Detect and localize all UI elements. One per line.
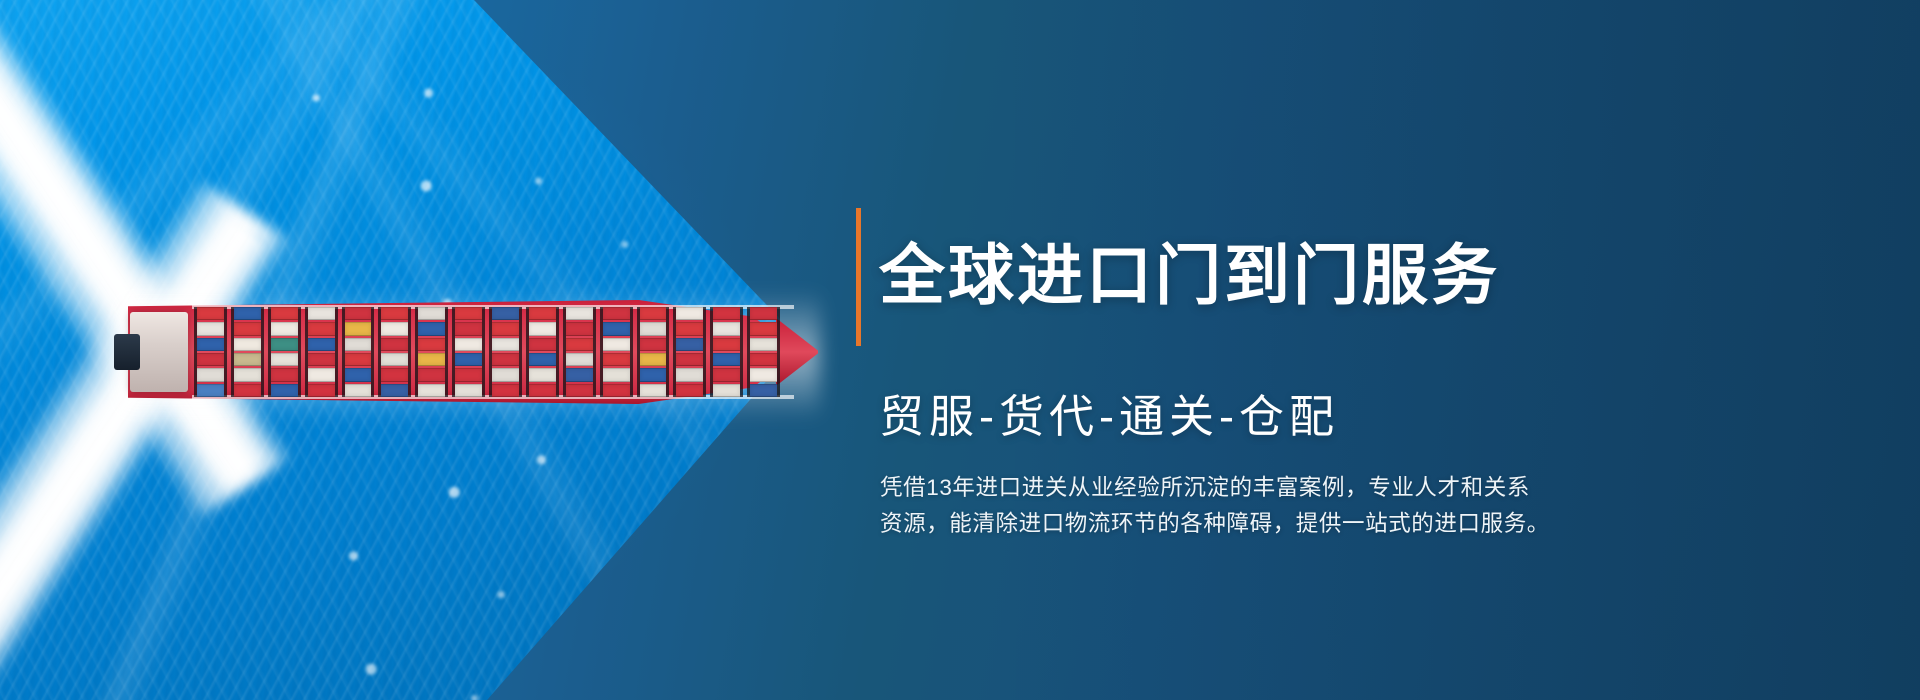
shipping-container	[271, 307, 298, 320]
shipping-container	[640, 322, 667, 335]
shipping-container	[381, 368, 408, 381]
shipping-container	[381, 384, 408, 397]
shipping-container	[197, 338, 224, 351]
shipping-container	[271, 322, 298, 335]
shipping-container	[750, 368, 777, 381]
shipping-container	[418, 338, 445, 351]
banner-description: 凭借13年进口进关从业经验所沉淀的丰富案例，专业人才和关系 资源，能清除进口物流…	[880, 470, 1640, 543]
shipping-container	[381, 338, 408, 351]
shipping-container	[603, 384, 630, 397]
shipping-container	[640, 353, 667, 366]
hero-banner: 全球进口门到门服务 贸服-货代-通关-仓配 凭借13年进口进关从业经验所沉淀的丰…	[0, 0, 1920, 700]
shipping-container	[676, 353, 703, 366]
shipping-container	[640, 368, 667, 381]
shipping-container	[234, 338, 261, 351]
shipping-container	[492, 338, 519, 351]
container-stacks	[194, 307, 780, 397]
shipping-container	[529, 338, 556, 351]
shipping-container	[418, 368, 445, 381]
shipping-container	[750, 353, 777, 366]
shipping-container	[308, 368, 335, 381]
shipping-container	[713, 353, 740, 366]
shipping-container	[713, 307, 740, 320]
container-bay	[194, 307, 227, 397]
shipping-container	[713, 322, 740, 335]
shipping-container	[234, 384, 261, 397]
shipping-container	[381, 353, 408, 366]
shipping-container	[455, 368, 482, 381]
shipping-container	[381, 307, 408, 320]
accent-bar-icon	[856, 208, 861, 346]
shipping-container	[234, 353, 261, 366]
shipping-container	[418, 384, 445, 397]
container-bay	[637, 307, 670, 397]
shipping-container	[640, 384, 667, 397]
shipping-container	[603, 338, 630, 351]
shipping-container	[308, 322, 335, 335]
shipping-container	[197, 384, 224, 397]
shipping-container	[492, 368, 519, 381]
shipping-container	[308, 307, 335, 320]
shipping-container	[345, 307, 372, 320]
shipping-container	[676, 338, 703, 351]
shipping-container	[492, 307, 519, 320]
shipping-container	[566, 322, 593, 335]
shipping-container	[566, 368, 593, 381]
shipping-container	[640, 307, 667, 320]
ship-bridge	[114, 334, 140, 370]
container-bay	[415, 307, 448, 397]
shipping-container	[455, 353, 482, 366]
shipping-container	[418, 353, 445, 366]
description-line-2: 资源，能清除进口物流环节的各种障碍，提供一站式的进口服务。	[880, 506, 1640, 542]
shipping-container	[750, 322, 777, 335]
banner-text-block: 全球进口门到门服务 贸服-货代-通关-仓配 凭借13年进口进关从业经验所沉淀的丰…	[856, 196, 1836, 565]
container-bay	[231, 307, 264, 397]
headline-row: 全球进口门到门服务	[856, 196, 1836, 356]
shipping-container	[529, 368, 556, 381]
container-bay	[563, 307, 596, 397]
container-bay	[600, 307, 633, 397]
shipping-container	[197, 368, 224, 381]
shipping-container	[676, 307, 703, 320]
shipping-container	[713, 368, 740, 381]
container-bay	[378, 307, 411, 397]
shipping-container	[529, 353, 556, 366]
shipping-container	[271, 384, 298, 397]
shipping-container	[418, 322, 445, 335]
shipping-container	[197, 322, 224, 335]
shipping-container	[271, 368, 298, 381]
shipping-container	[345, 368, 372, 381]
shipping-container	[529, 322, 556, 335]
shipping-container	[603, 307, 630, 320]
container-bay	[305, 307, 338, 397]
container-bay	[268, 307, 301, 397]
container-bay	[747, 307, 780, 397]
shipping-container	[234, 368, 261, 381]
shipping-container	[640, 338, 667, 351]
shipping-container	[381, 322, 408, 335]
container-ship-icon	[128, 300, 800, 404]
shipping-container	[603, 353, 630, 366]
shipping-container	[676, 322, 703, 335]
shipping-container	[455, 322, 482, 335]
shipping-container	[345, 322, 372, 335]
shipping-container	[308, 338, 335, 351]
banner-headline: 全球进口门到门服务	[879, 240, 1500, 311]
shipping-container	[455, 307, 482, 320]
shipping-container	[676, 384, 703, 397]
shipping-container	[197, 353, 224, 366]
shipping-container	[529, 384, 556, 397]
shipping-container	[750, 338, 777, 351]
shipping-container	[345, 384, 372, 397]
shipping-container	[234, 307, 261, 320]
shipping-container	[566, 307, 593, 320]
shipping-container	[234, 322, 261, 335]
shipping-container	[271, 338, 298, 351]
shipping-container	[492, 322, 519, 335]
banner-subheadline: 贸服-货代-通关-仓配	[879, 390, 1836, 444]
shipping-container	[345, 338, 372, 351]
shipping-container	[492, 353, 519, 366]
shipping-container	[713, 384, 740, 397]
shipping-container	[676, 368, 703, 381]
shipping-container	[345, 353, 372, 366]
shipping-container	[308, 353, 335, 366]
description-line-1: 凭借13年进口进关从业经验所沉淀的丰富案例，专业人才和关系	[880, 470, 1640, 506]
shipping-container	[197, 307, 224, 320]
container-bay	[673, 307, 706, 397]
shipping-container	[603, 368, 630, 381]
shipping-container	[418, 307, 445, 320]
shipping-container	[455, 384, 482, 397]
shipping-container	[566, 384, 593, 397]
shipping-container	[750, 384, 777, 397]
container-bay	[342, 307, 375, 397]
container-bay	[489, 307, 522, 397]
shipping-container	[750, 307, 777, 320]
shipping-container	[271, 353, 298, 366]
shipping-container	[529, 307, 556, 320]
shipping-container	[492, 384, 519, 397]
container-bay	[710, 307, 743, 397]
container-bay	[452, 307, 485, 397]
container-bay	[526, 307, 559, 397]
shipping-container	[308, 384, 335, 397]
shipping-container	[603, 322, 630, 335]
shipping-container	[566, 338, 593, 351]
shipping-container	[566, 353, 593, 366]
shipping-container	[713, 338, 740, 351]
shipping-container	[455, 338, 482, 351]
